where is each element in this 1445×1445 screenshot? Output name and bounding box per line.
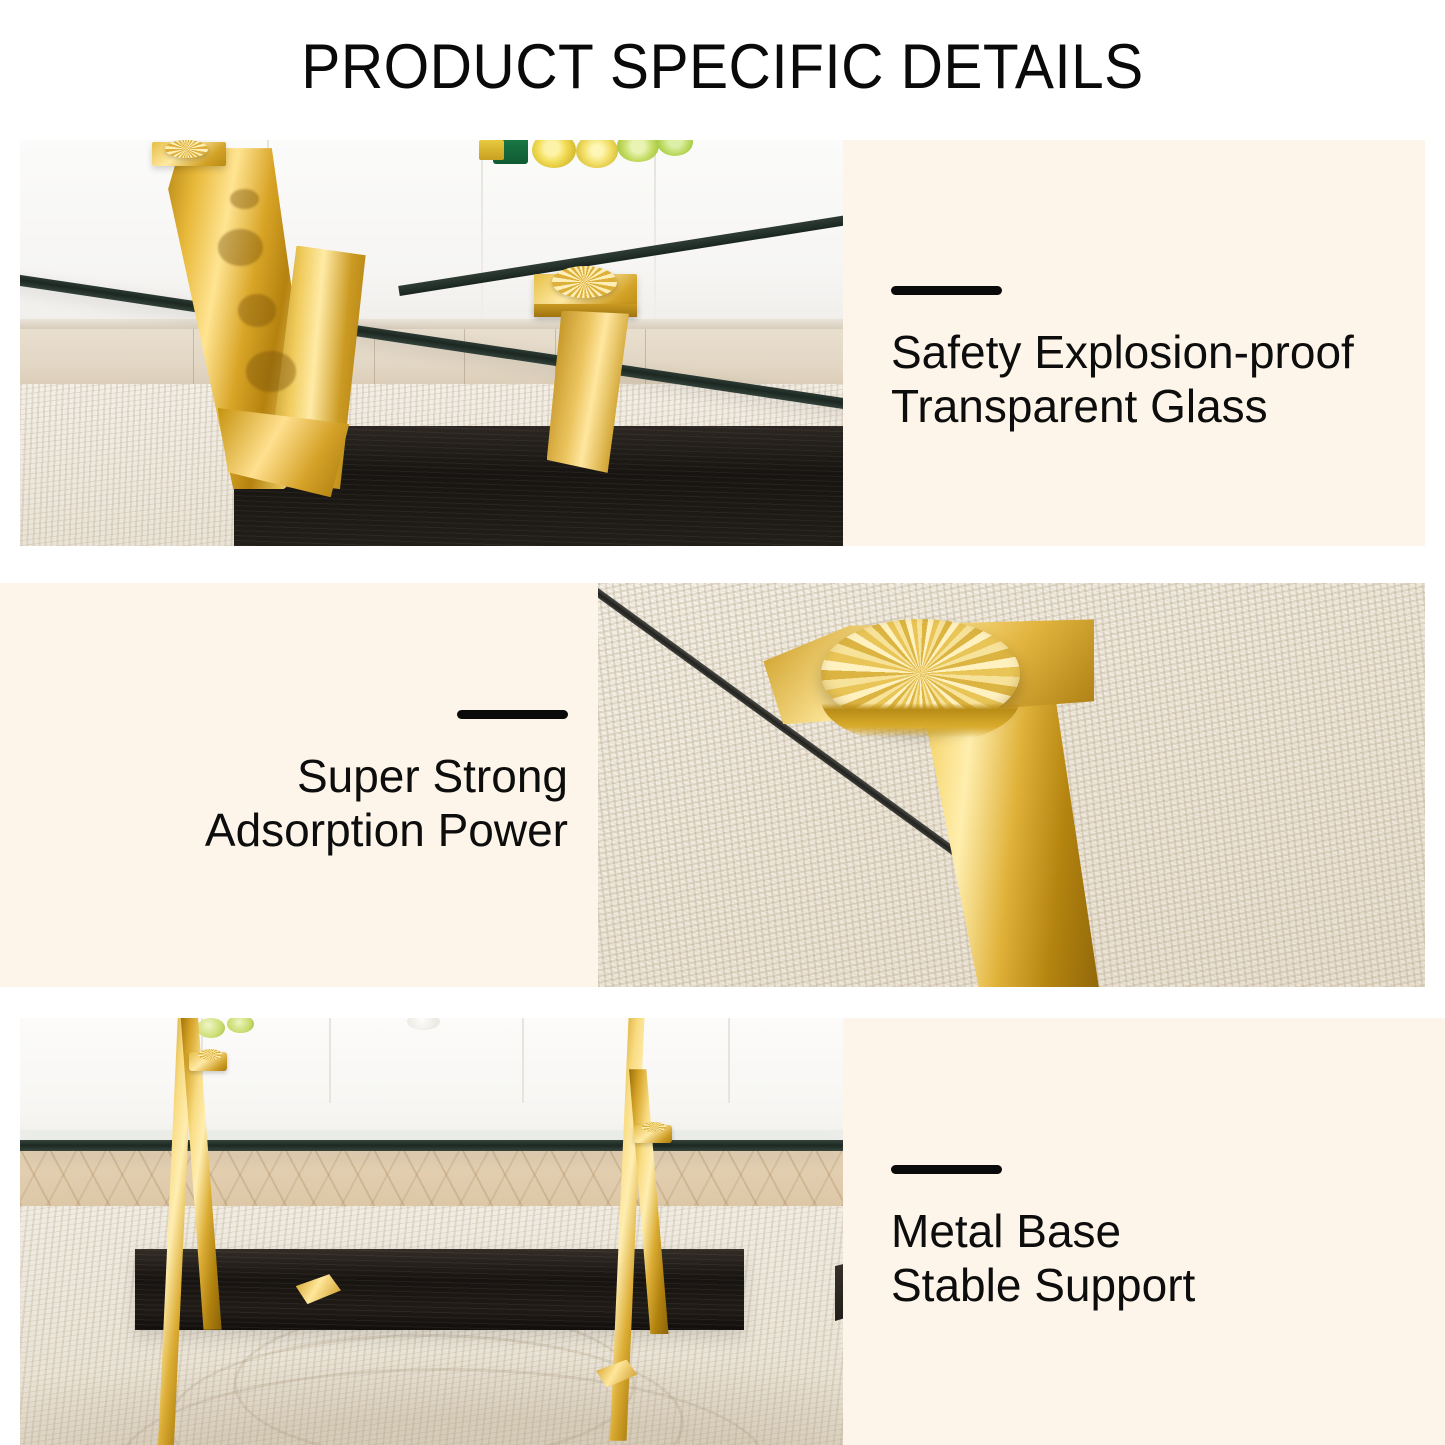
accent-rule [891,286,1002,295]
cabinet-seam [329,1018,331,1103]
cabinet-seam [522,1018,524,1103]
leg-reflection [246,351,295,392]
feature-text-block-3: Metal Base Stable Support [843,1018,1445,1445]
gold-suction-disc [198,1049,222,1060]
headline-line-1: Safety Explosion-proof [891,325,1354,379]
headline-line-2: Transparent Glass [891,379,1354,433]
feature-panel-3: Metal Base Stable Support [20,1018,1445,1445]
product-photo-glass-top [20,140,843,546]
cabinet-seam [481,140,483,343]
accent-rule [891,1165,1002,1174]
headline-line-2: Stable Support [891,1258,1195,1312]
feature-text-block-1: Safety Explosion-proof Transparent Glass [843,140,1425,546]
glass-tabletop-edge [20,1140,843,1151]
headline-line-1: Super Strong [205,749,568,803]
herringbone-wood-floor [20,1150,843,1206]
accent-rule [457,710,568,719]
feature-panel-2: Super Strong Adsorption Power [0,583,1425,987]
product-photo-suction-disc [598,583,1425,987]
leg-reflection [218,229,263,266]
black-wood-crossbar-end [835,1257,843,1321]
infographic-page: PRODUCT SPECIFIC DETAILS [0,0,1445,1445]
green-decor-ball [197,1018,225,1038]
feature-headline-3: Metal Base Stable Support [891,1204,1195,1313]
page-title: PRODUCT SPECIFIC DETAILS [51,36,1395,99]
headline-line-1: Metal Base [891,1204,1195,1258]
leg-reflection [238,294,276,326]
counter-edge [20,319,843,329]
feature-panel-1: Safety Explosion-proof Transparent Glass [20,140,1425,546]
feature-headline-2: Super Strong Adsorption Power [205,749,568,858]
cabinet-seam [654,140,656,343]
gold-bottle-cap [479,140,504,160]
gold-suction-disc [165,140,208,158]
product-photo-metal-base [20,1018,843,1445]
headline-line-2: Adsorption Power [205,803,568,857]
gold-suction-disc-rim [821,652,1019,745]
feature-text-block-2: Super Strong Adsorption Power [0,583,598,987]
cabinet-seam [728,1018,730,1103]
feature-headline-1: Safety Explosion-proof Transparent Glass [891,325,1354,434]
